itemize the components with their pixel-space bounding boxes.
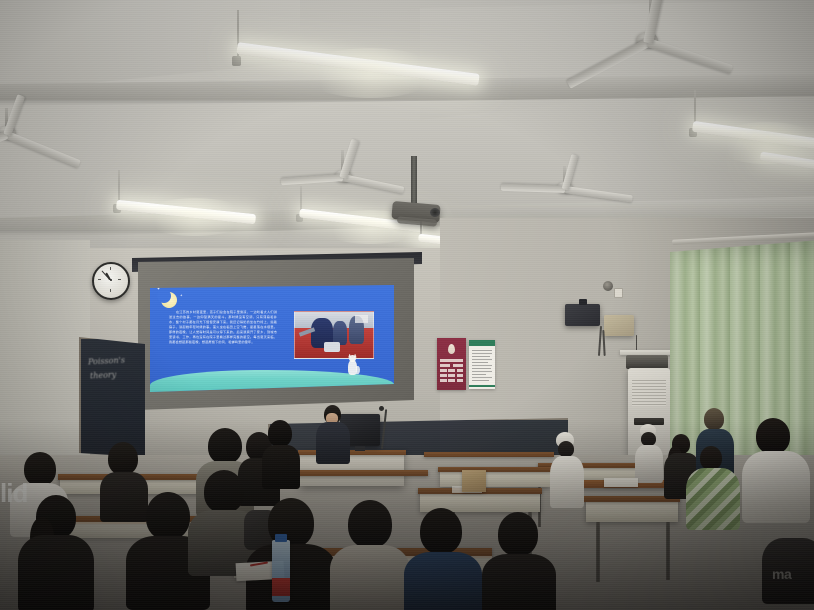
air-conditioner-grill [632, 380, 666, 406]
wall-speaker [565, 304, 600, 326]
desk-row-b [440, 470, 550, 487]
air-conditioner-top [626, 355, 668, 369]
fan-blade [566, 39, 650, 89]
cardboard-box [462, 470, 486, 492]
classroom-photo: 在江苏的乡村夏夜里，孩子们总会在院子里乘凉，一边听着大人们讲述过去的故事，一边仰… [0, 0, 814, 610]
slide-photo [294, 311, 374, 359]
desk-edge [438, 467, 552, 472]
poster-header-bar [469, 340, 495, 346]
fan-blade [342, 174, 404, 194]
desk-row-d [586, 500, 678, 522]
wall-socket [614, 288, 623, 298]
ceiling-fan-4 [500, 166, 640, 226]
light-cap [232, 56, 241, 66]
window-curtain [670, 240, 814, 462]
slide-body-text: 在江苏的乡村夏夜里，孩子们总会在院子里乘凉，一边听着大人们讲述过去的故事，一边仰… [169, 310, 277, 372]
shirt-logo-text: lid [0, 478, 27, 509]
projector-lens [430, 208, 440, 217]
notebook [604, 478, 638, 487]
junction-box [604, 315, 634, 336]
bottle-label [272, 578, 290, 596]
podium-edge [298, 450, 406, 455]
bottle-cap [275, 534, 287, 542]
speaker-bracket [579, 299, 587, 305]
cat-silhouette-icon [345, 354, 360, 376]
slide-content: 在江苏的乡村夏夜里，孩子们总会在院子里乘凉，一边听着大人们讲述过去的故事，一边仰… [150, 285, 394, 392]
fire-safety-poster [437, 338, 466, 390]
fan-blade [647, 38, 733, 74]
wall-clock [92, 262, 130, 300]
star-icon [180, 294, 183, 297]
fan-blade [501, 184, 565, 193]
ceiling-fan-1 [560, 0, 740, 90]
presenter-body [316, 422, 350, 464]
desk-edge [424, 452, 554, 457]
shorts-logo-text: ma [772, 566, 791, 582]
desk-leg [666, 522, 670, 580]
projector-pole [411, 156, 417, 206]
crescent-moon-icon [159, 290, 179, 310]
ceiling-fan-2 [0, 108, 100, 178]
notice-poster [469, 340, 495, 389]
fan-blade [565, 186, 633, 202]
monitor-stand [355, 446, 365, 451]
microphone-head [379, 406, 384, 411]
desk-leg [596, 522, 600, 582]
fan-blade [6, 131, 81, 168]
security-camera [603, 281, 613, 291]
fan-blade [281, 174, 343, 185]
flame-icon [448, 344, 455, 354]
